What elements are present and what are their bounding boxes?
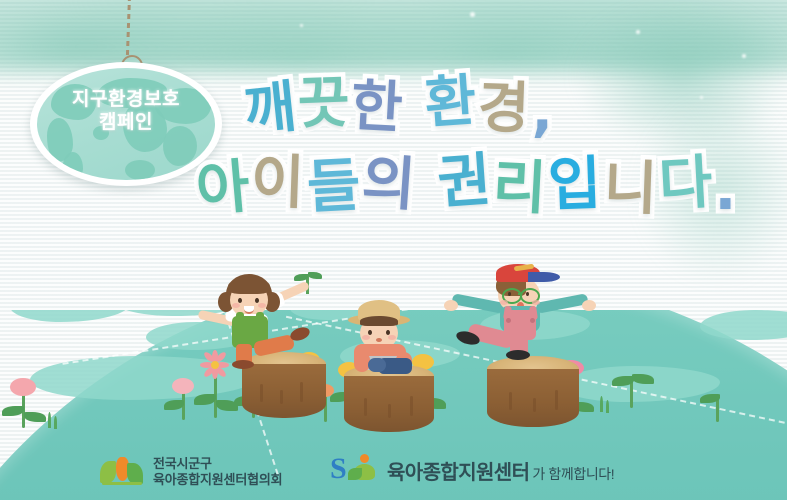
headline-line-1: 깨끗한 환경,: [244, 78, 555, 134]
shoe-standing: [232, 360, 254, 369]
cheek-left: [362, 335, 370, 340]
flower-pink: [10, 378, 36, 396]
leaf-sprig-leaf: [308, 272, 322, 279]
child-girl-balancing: [196, 272, 346, 368]
footer: 전국시군구 육아종합지원센터협의회 S 육아종합지원센터 가 함께합니다!: [0, 438, 787, 500]
council-logo-mark-icon: [100, 457, 144, 487]
bark-line: [410, 396, 413, 416]
wash-speck: [300, 24, 303, 27]
childcare-logo-text: 육아종합지원센터 가 함께합니다!: [387, 456, 614, 485]
eye-left: [368, 330, 372, 335]
headline-char: 입: [547, 154, 602, 214]
cap-brim: [528, 272, 560, 282]
leaf: [194, 394, 216, 405]
headline-char: ,: [532, 84, 553, 140]
hand-left: [444, 300, 458, 311]
bark-line: [555, 390, 558, 410]
headline-char: 환: [422, 73, 477, 132]
headline-char: 이: [250, 152, 305, 212]
flower-pink-small: [172, 378, 194, 394]
grass-blade: [606, 400, 609, 413]
nationwide-council-logo[interactable]: 전국시군구 육아종합지원센터협의회: [100, 456, 282, 488]
glasses-bridge: [518, 293, 522, 295]
bark-line: [280, 390, 283, 404]
campaign-poster: 지구환경보호 캠페인 깨끗한 환경, 아이들의 권리입니다.: [0, 0, 787, 500]
cheek-right: [258, 303, 266, 308]
cheek-right: [388, 335, 396, 340]
childcare-center-logo[interactable]: S 육아종합지원센터 가 함께합니다!: [330, 454, 614, 486]
sprout-far-right: [700, 392, 750, 428]
headline: 깨끗한 환경, 아이들의 권리입니다.: [196, 78, 776, 248]
headline-char: 끗: [296, 75, 349, 133]
wash-speck: [742, 54, 746, 58]
headline-char: .: [714, 160, 736, 218]
bark-line: [260, 384, 263, 402]
sprout-stem: [630, 380, 633, 408]
headline-char: 들: [305, 156, 361, 217]
grass-blade: [54, 416, 57, 429]
mark-letter-s: S: [330, 452, 347, 486]
vest-strap-left: [236, 312, 244, 324]
hair-fringe: [360, 316, 398, 326]
childcare-logo-main-text: 육아종합지원센터: [387, 456, 529, 485]
bark-line: [388, 404, 391, 418]
leaf: [632, 374, 654, 384]
cheek-right: [532, 300, 540, 305]
bark-line: [533, 398, 536, 412]
continent-shape: [125, 160, 155, 180]
bark-line: [300, 382, 303, 402]
council-logo-text: 전국시군구 육아종합지원센터협의회: [153, 456, 282, 488]
headline-char: 의: [360, 152, 417, 214]
eye-left: [508, 292, 511, 296]
sprout-right: [612, 372, 662, 412]
grass-blade: [600, 396, 603, 412]
leaf: [24, 412, 46, 422]
headline-char: [418, 156, 436, 214]
hand-right: [582, 300, 596, 311]
plant-cluster-far-left: [0, 372, 70, 432]
sprout-stem: [716, 398, 719, 422]
tree-stump-middle: [344, 364, 434, 434]
overalls-button-right: [530, 318, 535, 323]
land-mass: [700, 310, 787, 340]
continent-shape: [63, 152, 83, 180]
hair-fringe: [228, 278, 270, 294]
shoe-standing: [506, 350, 530, 360]
mark-leaf-green: [100, 461, 116, 483]
child-boy-sitting: [342, 300, 442, 372]
badge-text: 지구환경보호 캠페인: [30, 88, 222, 134]
council-logo-line-2: 육아종합지원센터협의회: [153, 472, 282, 488]
headline-char: 리: [491, 157, 547, 218]
mark-leaf-green-2: [127, 463, 143, 484]
headline-char: 한: [350, 79, 404, 138]
cheek-left: [500, 300, 508, 305]
leaf: [2, 406, 24, 416]
stump-body: [242, 364, 326, 418]
cheek-left: [232, 303, 240, 308]
bark-line: [364, 398, 367, 416]
land-mass: [10, 310, 130, 322]
childcare-logo-mark-icon: S: [330, 454, 378, 486]
grass-blade: [48, 412, 51, 428]
vest-strap-right: [256, 312, 264, 324]
tree-stump-right: [487, 356, 579, 428]
child-boy-with-cap: [440, 262, 600, 362]
headline-char: 깨: [242, 79, 299, 140]
eye-left: [238, 298, 242, 303]
overalls-button-left: [506, 318, 511, 323]
headline-line-2: 아이들의 권리입니다.: [196, 156, 738, 214]
badge-line-1: 지구환경보호: [30, 88, 222, 111]
mark-swoosh: [348, 468, 362, 480]
arm-left: [451, 293, 504, 314]
mouth: [376, 338, 382, 342]
headline-char: 니: [603, 158, 658, 218]
headline-char: 아: [194, 157, 252, 219]
bark-line: [509, 392, 512, 410]
headline-char: [405, 78, 423, 134]
knee: [368, 358, 386, 372]
wash-speck: [470, 12, 475, 17]
headline-char: 다: [657, 153, 713, 214]
eye-right: [526, 292, 529, 296]
badge-line-2: 캠페인: [30, 111, 222, 134]
headline-char: 권: [435, 150, 492, 212]
headline-char: 경: [477, 80, 530, 138]
globe-badge: 지구환경보호 캠페인: [30, 62, 222, 186]
mark-base-line: [102, 482, 142, 485]
leaf: [164, 400, 184, 410]
eye-right: [255, 298, 259, 303]
wash-speck: [636, 30, 640, 34]
childcare-logo-sub-text: 가 함께합니다!: [532, 464, 614, 484]
arm-right: [535, 293, 588, 314]
mark-figure-head: [360, 454, 369, 463]
council-logo-line-1: 전국시군구: [153, 456, 282, 472]
